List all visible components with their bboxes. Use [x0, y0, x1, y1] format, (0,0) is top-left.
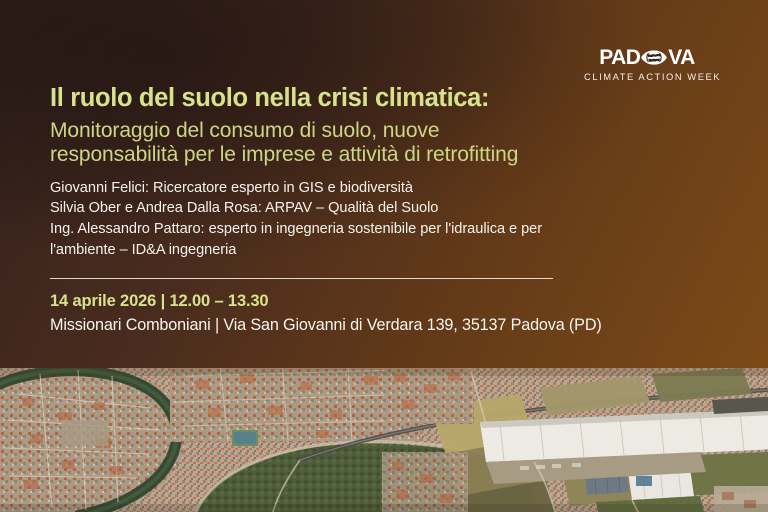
satellite-map-image — [0, 368, 768, 512]
speaker-list: Giovanni Felici: Ricercatore esperto in … — [50, 178, 728, 261]
aerial-photo — [0, 368, 768, 512]
padova-climate-action-week-logo: PAD VA CLIMATE ACTION WEEK — [584, 46, 710, 81]
event-venue: Missionari Comboniani | Via San Giovanni… — [50, 316, 728, 335]
poster-content: Il ruolo del suolo nella crisi climatica… — [50, 84, 728, 335]
logo-word-left: PAD — [599, 47, 640, 68]
list-item: Giovanni Felici: Ricercatore esperto in … — [50, 178, 728, 199]
logo-tagline: CLIMATE ACTION WEEK — [584, 72, 710, 81]
globe-icon — [641, 47, 667, 68]
event-subtitle-line-2: responsabilità per le imprese e attività… — [50, 143, 728, 168]
list-item: Ing. Alessandro Pattaro: esperto in inge… — [50, 219, 728, 240]
event-datetime: 14 aprile 2026 | 12.00 – 13.30 — [50, 292, 728, 311]
section-divider — [50, 278, 553, 280]
event-subtitle-line-1: Monitoraggio del consumo di suolo, nuove — [50, 119, 728, 144]
event-subtitle: Monitoraggio del consumo di suolo, nuove… — [50, 119, 728, 168]
event-title: Il ruolo del suolo nella crisi climatica… — [50, 84, 728, 113]
logo-word-right: VA — [668, 47, 694, 68]
list-item: Silvia Ober e Andrea Dalla Rosa: ARPAV –… — [50, 198, 728, 219]
banner-panel: PAD VA CLIMATE ACTION WEEK — [0, 0, 768, 368]
event-poster: PAD VA CLIMATE ACTION WEEK — [0, 0, 768, 512]
logo-wordmark: PAD VA — [584, 46, 710, 68]
list-item: l'ambiente – ID&A ingegneria — [50, 240, 728, 261]
